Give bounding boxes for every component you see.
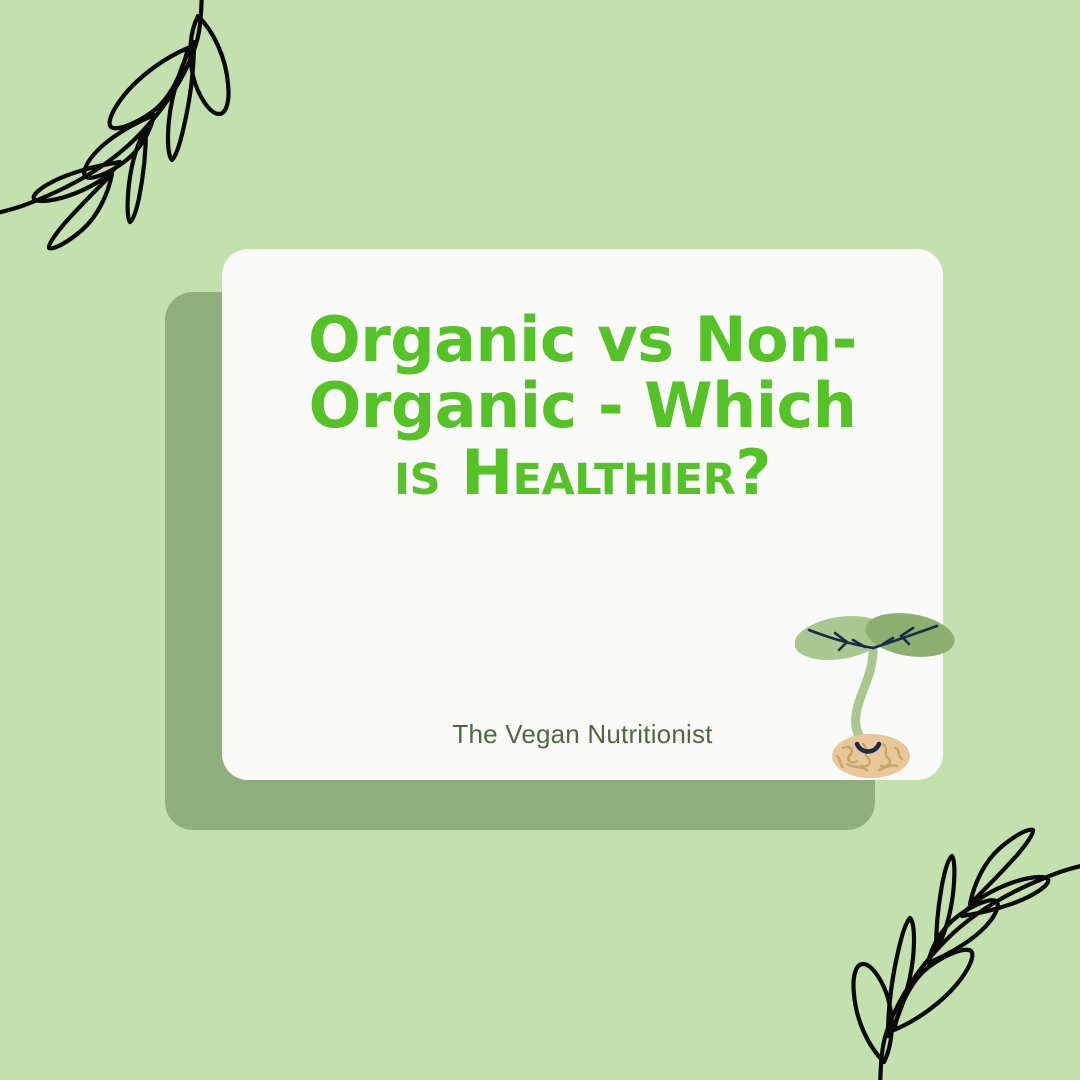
- title-line-3: is Healthier?: [256, 440, 909, 506]
- page-title: Organic vs Non- Organic - Which is Healt…: [256, 307, 909, 506]
- subtitle-author: The Vegan Nutritionist: [222, 719, 943, 750]
- poster-canvas: Organic vs Non- Organic - Which is Healt…: [0, 0, 1080, 1080]
- title-line-1: Organic vs Non-: [256, 307, 909, 373]
- branch-top-left-icon: [0, 0, 288, 264]
- card-inner: Organic vs Non- Organic - Which is Healt…: [222, 249, 943, 780]
- branch-bottom-right-icon: [794, 814, 1080, 1080]
- title-line-2: Organic - Which: [256, 373, 909, 439]
- content-card: Organic vs Non- Organic - Which is Healt…: [222, 249, 943, 780]
